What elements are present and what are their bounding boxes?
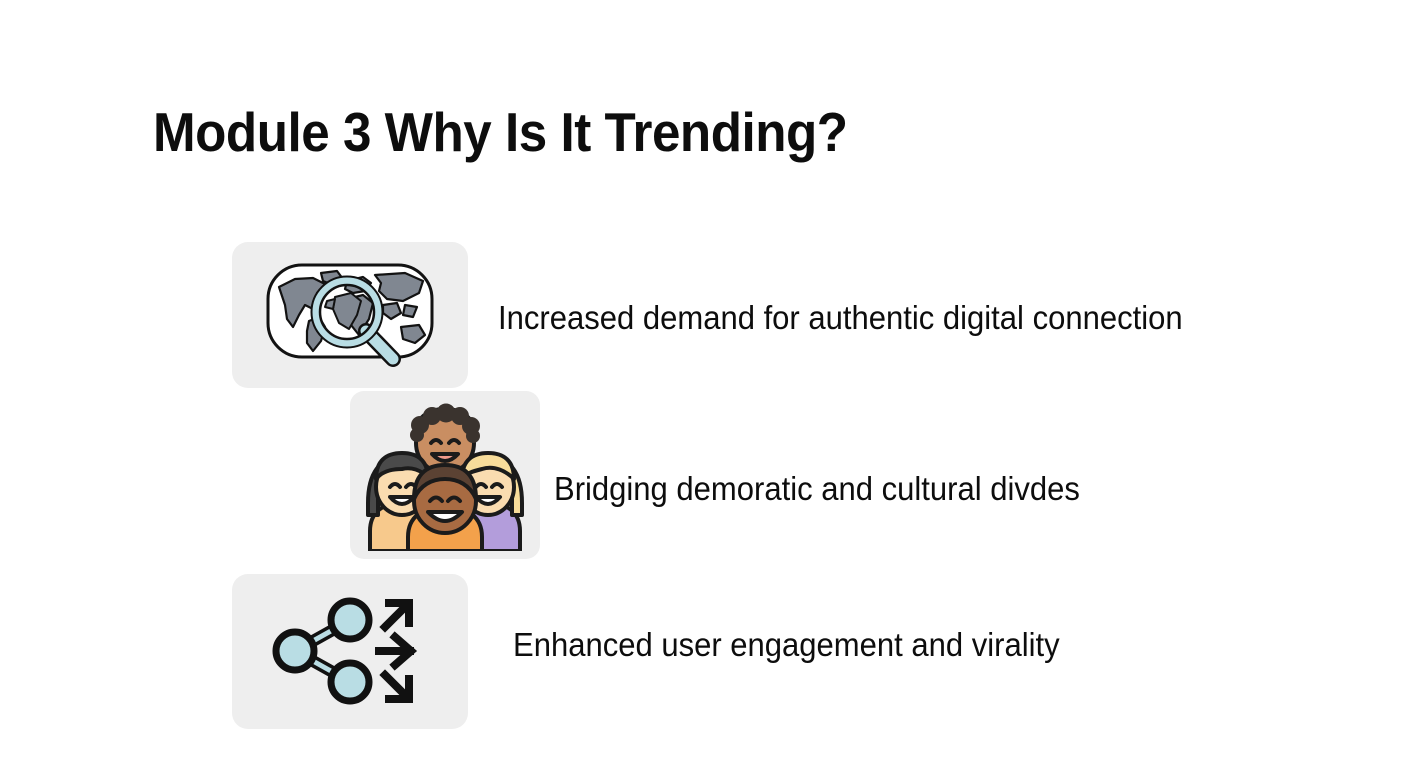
icon-tile-3	[232, 574, 468, 729]
bullet-row-list: Increased demand for authentic digital c…	[0, 0, 1408, 768]
slide-canvas: Module 3 Why Is It Trending?	[0, 0, 1408, 768]
icon-tile-2	[350, 391, 540, 559]
group-of-people-icon	[360, 399, 530, 551]
bullet-label-2: Bridging demoratic and cultural divdes	[554, 469, 1080, 509]
world-map-magnifier-icon	[255, 257, 445, 373]
share-network-arrows-icon	[255, 589, 445, 714]
bullet-label-3: Enhanced user engagement and virality	[513, 625, 1060, 665]
icon-tile-1	[232, 242, 468, 388]
bullet-label-1: Increased demand for authentic digital c…	[498, 298, 1183, 338]
